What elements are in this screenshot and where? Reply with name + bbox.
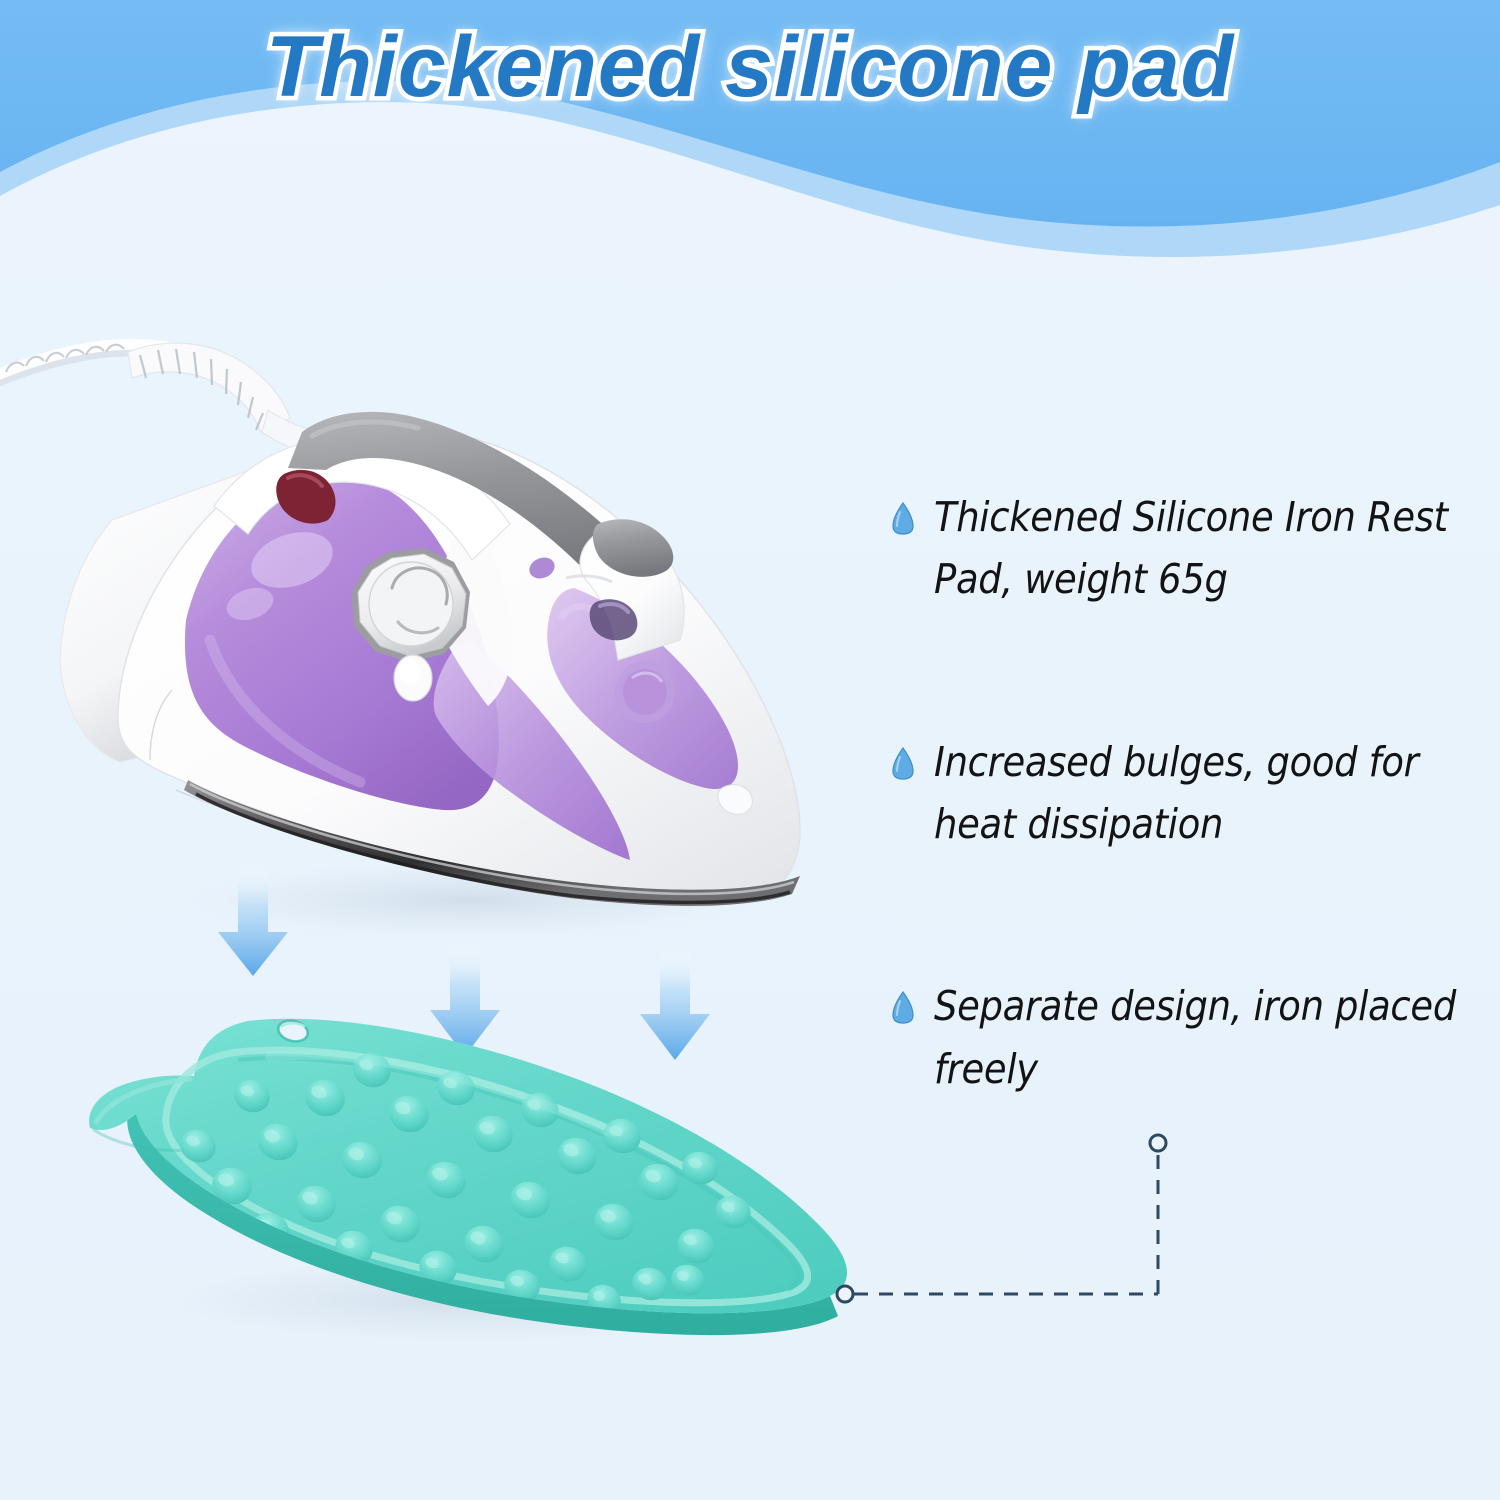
dimension-endpoint-top	[1150, 1135, 1166, 1151]
feature-item-2: Increased bulges, good for heat dissipat…	[892, 731, 1492, 856]
iron-soleplate	[184, 780, 800, 906]
pad-inner-rim-shadow	[238, 1058, 799, 1290]
temperature-indicator-window	[276, 470, 335, 524]
iron-rear-skirt	[60, 470, 250, 762]
page-title: Thickened silicone pad	[0, 18, 1500, 117]
iron-front-fin	[434, 640, 630, 860]
iron-handle-support	[214, 437, 510, 560]
steam-iron	[60, 412, 800, 906]
spray-button	[394, 655, 432, 701]
header-banner: Thickened silicone pad	[0, 0, 1500, 260]
product-infographic: Thickened silicone pad	[0, 0, 1500, 1500]
spray-nozzle-dial	[615, 661, 675, 723]
arrow-left	[218, 866, 288, 976]
pad-shadow	[140, 1254, 800, 1346]
steam-control-dial	[352, 548, 470, 662]
tank-nub	[526, 554, 558, 582]
iron-handle-post	[580, 532, 684, 660]
silicone-pad	[89, 1018, 847, 1335]
pad-side-edge	[127, 1100, 838, 1335]
iron-shadow	[180, 860, 760, 940]
feature-item-1: Thickened Silicone Iron Rest Pad, weight…	[892, 486, 1492, 611]
pad-inner-rim	[166, 1050, 808, 1303]
iron-handle-grip	[288, 412, 620, 586]
pad-hanging-hole	[276, 1018, 310, 1045]
iron-drop-bullet-icon	[892, 747, 914, 781]
feature-item-3: Separate design, iron placed freely	[892, 975, 1492, 1100]
pad-surface	[89, 1019, 847, 1314]
feature-list: Thickened Silicone Iron Rest Pad, weight…	[892, 486, 1492, 1100]
iron-drop-bullet-icon	[892, 991, 914, 1025]
pad-bumps	[175, 1047, 755, 1320]
iron-tip-nub	[718, 785, 752, 815]
dimension-callout	[837, 1135, 1166, 1302]
dimension-endpoint-left	[837, 1286, 853, 1302]
power-cord	[0, 343, 314, 452]
arrow-center	[430, 944, 500, 1056]
iron-nose-window	[547, 588, 738, 789]
feature-text: Thickened Silicone Iron Rest Pad, weight…	[934, 486, 1474, 611]
iron-water-tank	[185, 477, 499, 810]
steam-burst-button	[590, 599, 638, 640]
iron-body	[118, 429, 800, 906]
iron-post-cap	[593, 519, 673, 577]
feature-text: Separate design, iron placed freely	[934, 975, 1474, 1100]
direction-arrows	[218, 866, 710, 1060]
arrow-right	[640, 950, 710, 1060]
iron-drop-bullet-icon	[892, 502, 914, 536]
feature-text: Increased bulges, good for heat dissipat…	[934, 731, 1474, 856]
